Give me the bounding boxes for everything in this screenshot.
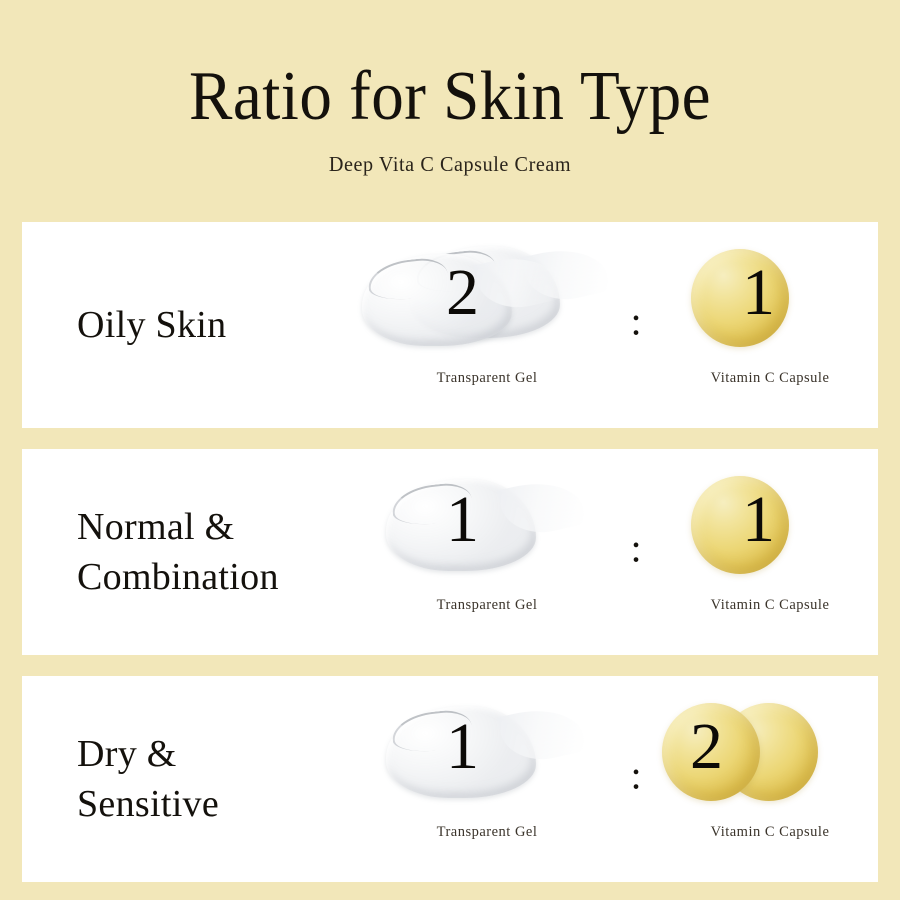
skin-type-label: Dry & Sensitive bbox=[77, 729, 377, 829]
capsule-caption: Vitamin C Capsule bbox=[662, 370, 878, 387]
transparent-gel-group: 1 Transparent Gel bbox=[362, 449, 612, 655]
capsule-visual: 1 bbox=[662, 240, 878, 362]
gel-visual: 1 bbox=[362, 694, 612, 816]
vitamin-c-capsule-group: 1 Vitamin C Capsule bbox=[662, 222, 878, 428]
gel-caption: Transparent Gel bbox=[362, 824, 612, 841]
capsule-ratio-value: 1 bbox=[742, 260, 775, 326]
ratio-separator: : bbox=[618, 303, 654, 339]
header: Ratio for Skin Type Deep Vita C Capsule … bbox=[0, 0, 900, 177]
gel-smear-icon bbox=[362, 254, 512, 346]
transparent-gel-group: 2 Transparent Gel bbox=[362, 222, 612, 428]
transparent-gel-group: 1 Transparent Gel bbox=[362, 676, 612, 882]
gel-ratio-value: 1 bbox=[446, 487, 479, 553]
page-title: Ratio for Skin Type bbox=[32, 62, 869, 132]
vitamin-c-capsule-group: 1 Vitamin C Capsule bbox=[662, 449, 878, 655]
capsule-visual: 1 bbox=[662, 467, 878, 589]
ratio-row-oily-skin: Oily Skin 2 Transparent Gel : 1 Vitamin … bbox=[22, 222, 878, 428]
gel-ratio-value: 1 bbox=[446, 714, 479, 780]
ratio-separator: : bbox=[618, 530, 654, 566]
gel-visual: 1 bbox=[362, 467, 612, 589]
skin-type-label: Oily Skin bbox=[77, 300, 377, 350]
page-subtitle: Deep Vita C Capsule Cream bbox=[18, 152, 882, 177]
gel-visual: 2 bbox=[362, 240, 612, 362]
skin-type-label: Normal & Combination bbox=[77, 502, 377, 602]
vitamin-c-capsule-group: 2 Vitamin C Capsule bbox=[662, 676, 878, 882]
capsule-ratio-value: 2 bbox=[690, 714, 723, 780]
ratio-row-normal-combination: Normal & Combination 1 Transparent Gel :… bbox=[22, 449, 878, 655]
capsule-caption: Vitamin C Capsule bbox=[662, 597, 878, 614]
ratio-rows: Oily Skin 2 Transparent Gel : 1 Vitamin … bbox=[22, 222, 878, 882]
ratio-row-dry-sensitive: Dry & Sensitive 1 Transparent Gel : 2 Vi… bbox=[22, 676, 878, 882]
capsule-visual: 2 bbox=[662, 694, 878, 816]
capsule-ratio-value: 1 bbox=[742, 487, 775, 553]
capsule-caption: Vitamin C Capsule bbox=[662, 824, 878, 841]
gel-caption: Transparent Gel bbox=[362, 597, 612, 614]
ratio-separator: : bbox=[618, 757, 654, 793]
gel-caption: Transparent Gel bbox=[362, 370, 612, 387]
gel-ratio-value: 2 bbox=[446, 260, 479, 326]
